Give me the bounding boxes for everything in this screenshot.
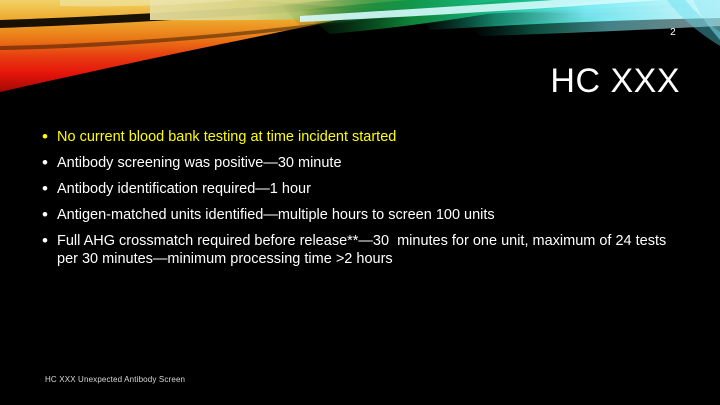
list-item-text: Full AHG crossmatch required before rele…: [57, 232, 682, 268]
list-item-text: No current blood bank testing at time in…: [57, 128, 682, 146]
bullet-marker: •: [42, 180, 57, 198]
list-item: • Antibody screening was positive—30 min…: [42, 154, 682, 172]
bullet-marker: •: [42, 154, 57, 172]
bullet-marker: •: [42, 232, 57, 250]
list-item: • Full AHG crossmatch required before re…: [42, 232, 682, 268]
page-number: 2: [660, 27, 686, 38]
list-item: • No current blood bank testing at time …: [42, 128, 682, 146]
list-item: • Antibody identification required—1 hou…: [42, 180, 682, 198]
bullet-marker: •: [42, 206, 57, 224]
slide-footer: HC XXX Unexpected Antibody Screen: [45, 375, 185, 384]
page-title: HC XXX: [550, 62, 680, 101]
list-item-text: Antibody identification required—1 hour: [57, 180, 682, 198]
list-item-text: Antigen-matched units identified—multipl…: [57, 206, 682, 224]
slide-canvas: 2 HC XXX • No current blood bank testing…: [0, 0, 720, 405]
list-item-text: Antibody screening was positive—30 minut…: [57, 154, 682, 172]
bullet-list: • No current blood bank testing at time …: [42, 128, 682, 268]
bullet-marker: •: [42, 128, 57, 146]
list-item: • Antigen-matched units identified—multi…: [42, 206, 682, 224]
